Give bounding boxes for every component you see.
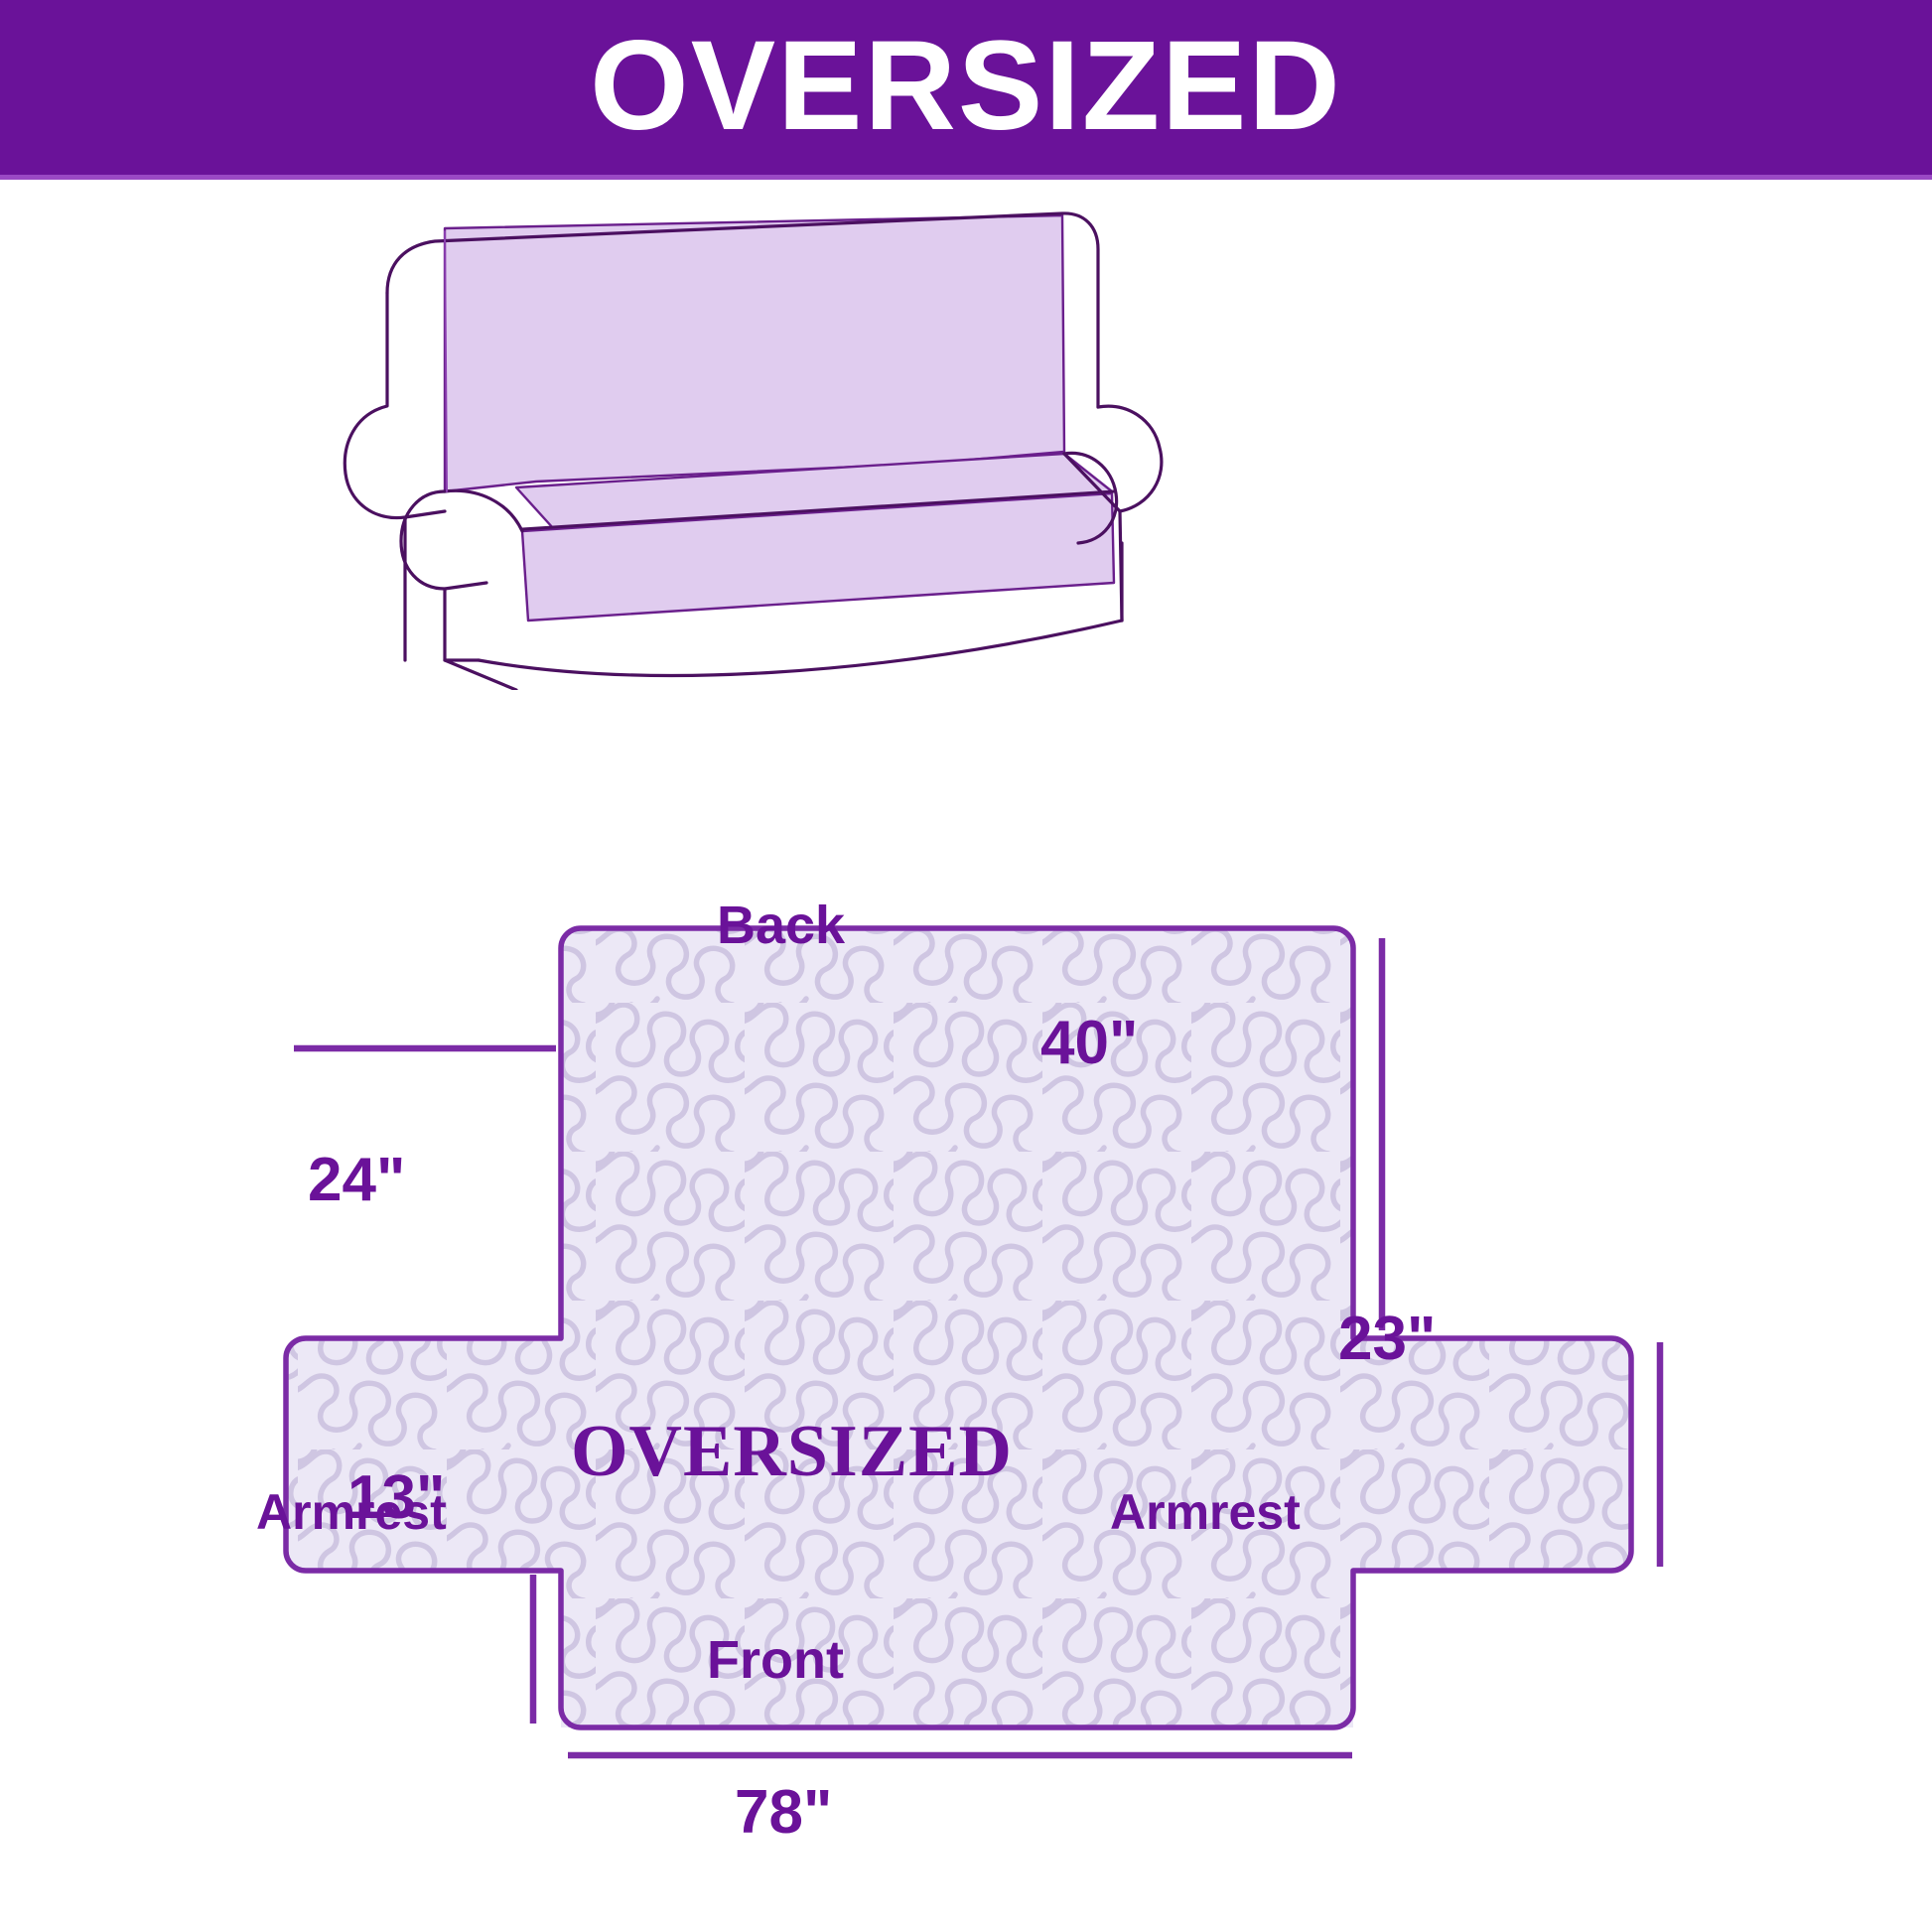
dimension-label-front-skirt: 13" bbox=[347, 1467, 445, 1529]
dimension-label-back-height: 40" bbox=[1040, 1013, 1138, 1074]
sofa-illustration bbox=[328, 194, 1320, 690]
sofa-line-drawing-svg bbox=[328, 194, 1320, 690]
panel-label-back: Back bbox=[717, 898, 845, 952]
header-banner: OVERSIZED bbox=[0, 0, 1932, 179]
sofa-left-arm-outer bbox=[345, 293, 445, 518]
layout-diagram-svg bbox=[0, 854, 1932, 1866]
panel-label-front: Front bbox=[707, 1633, 844, 1687]
center-size-label: OVERSIZED bbox=[571, 1415, 1013, 1488]
panel-label-armrest-right: Armrest bbox=[1110, 1487, 1301, 1537]
sofa-left-arm-top bbox=[445, 490, 522, 531]
page-title: OVERSIZED bbox=[590, 23, 1342, 150]
flat-layout-diagram bbox=[0, 854, 1932, 1866]
sofa-base-bottom bbox=[479, 621, 1122, 675]
sofa-back-panel bbox=[445, 215, 1064, 491]
sofa-left-arm-front bbox=[445, 589, 479, 660]
dimension-label-armrest-width: 24" bbox=[308, 1150, 405, 1211]
dimension-label-total-width: 78" bbox=[735, 1782, 832, 1844]
banner-bottom-edge bbox=[0, 175, 1932, 180]
sofa-left-arm-inner-roll bbox=[401, 491, 486, 589]
cover-body-bottom-fill bbox=[561, 1571, 1353, 1727]
cover-armrest-right-panel bbox=[1353, 1338, 1631, 1571]
dimension-label-armrest-height: 23" bbox=[1338, 1309, 1436, 1370]
